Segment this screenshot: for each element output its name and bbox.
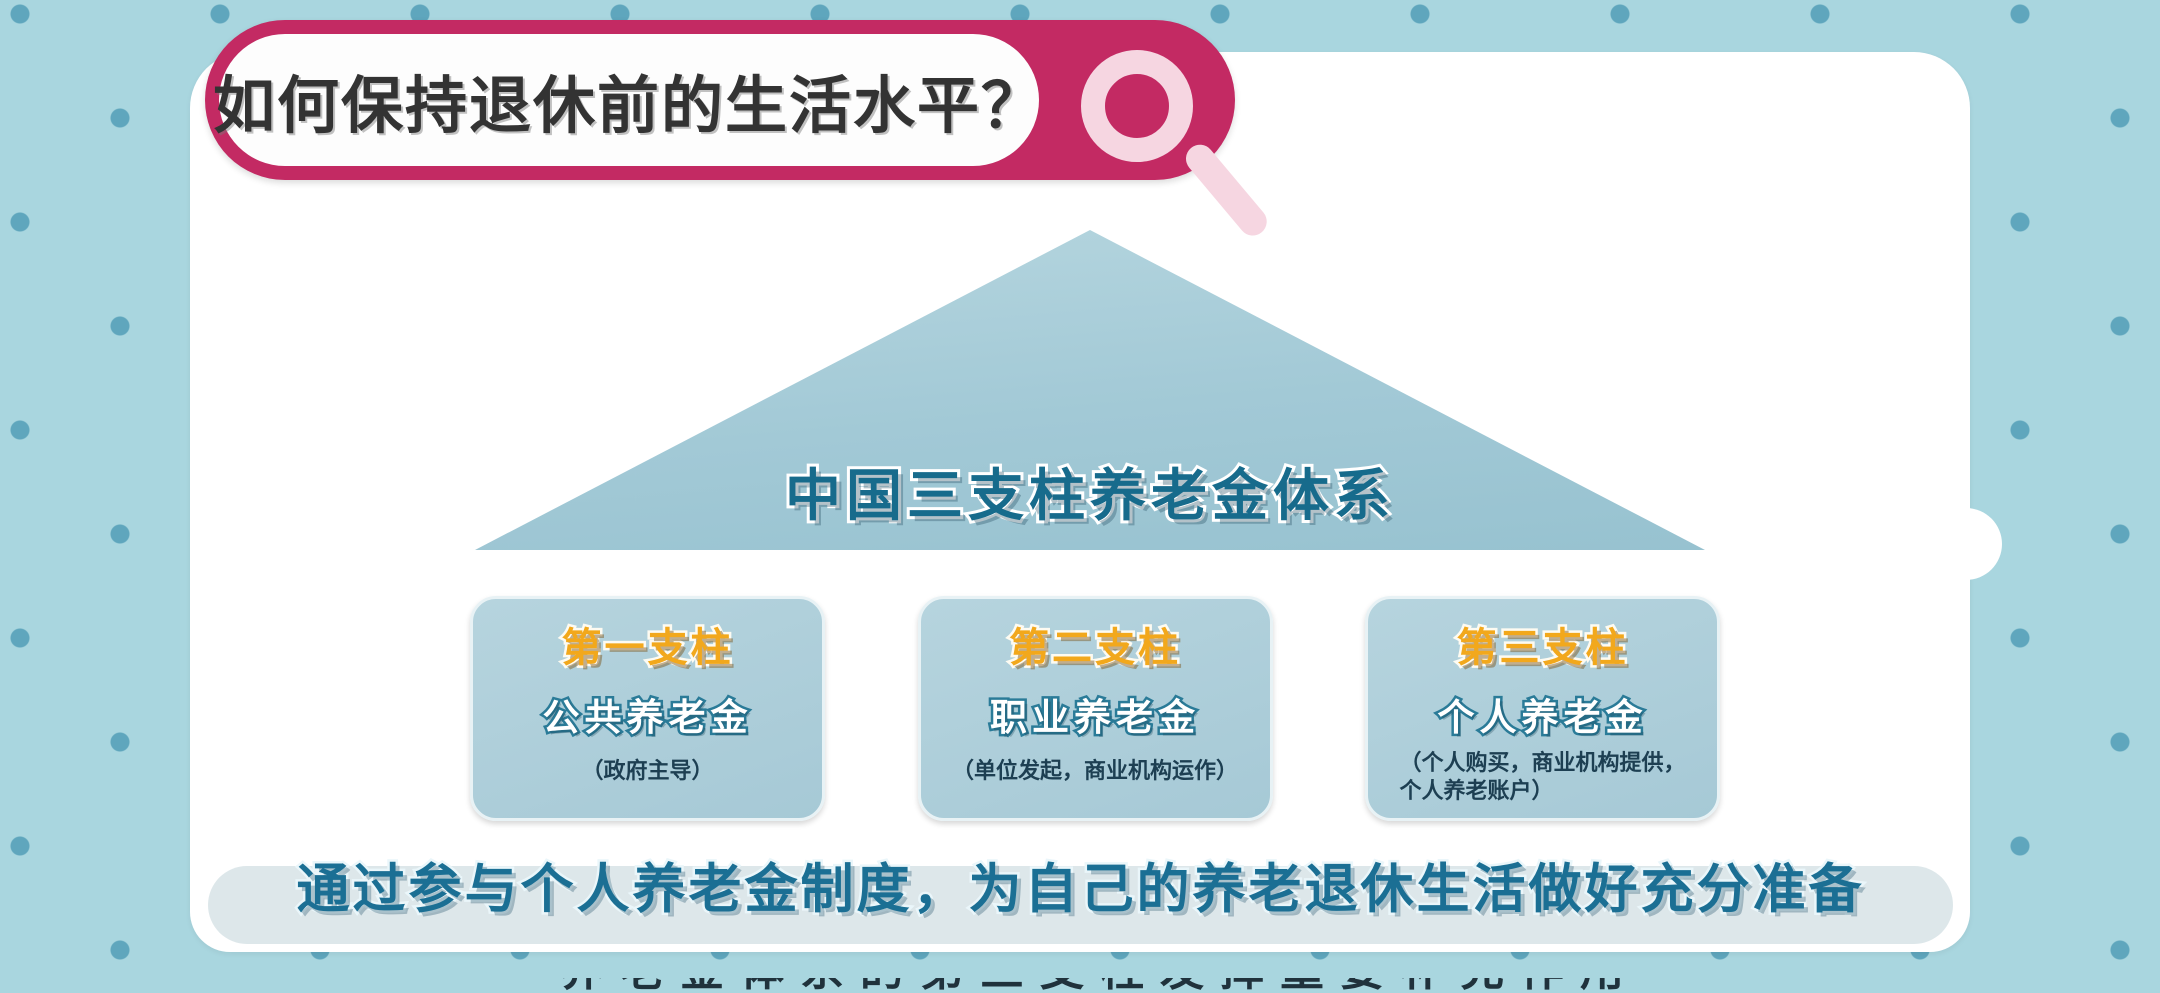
pillar-2-note: （单位发起，商业机构运作） (942, 757, 1248, 785)
title-pill-inner: 如何保持退休前的生活水平？ (219, 34, 1039, 166)
pillar-3-note-line-1: （个人购买，商业机构提供， (1399, 749, 1685, 777)
cutoff-text: 养老金体系的第三支柱发挥重要补充作用 (560, 978, 1640, 993)
pillar-2-heading: 第二支柱 (1009, 615, 1181, 673)
magnifier-handle (1180, 139, 1272, 241)
pillar-3-heading: 第三支柱 (1457, 615, 1629, 673)
pillar-card-list: 第一支柱 公共养老金 （政府主导） 第二支柱 职业养老金 （单位发起，商业机构运… (470, 596, 1720, 821)
pillar-card-1[interactable]: 第一支柱 公共养老金 （政府主导） (470, 596, 825, 821)
pillar-3-subtitle: 个人养老金 (1438, 687, 1648, 741)
pillar-1-heading: 第一支柱 (562, 615, 734, 673)
title-banner: 如何保持退休前的生活水平？ (205, 20, 1235, 180)
pyramid-title: 中国三支柱养老金体系 (475, 451, 1705, 532)
magnifier-icon (1065, 38, 1275, 228)
cutoff-text-row: 养老金体系的第三支柱发挥重要补充作用 (0, 978, 2160, 993)
pillar-card-2[interactable]: 第二支柱 职业养老金 （单位发起，商业机构运作） (918, 596, 1273, 821)
pillar-1-note: （政府主导） (571, 757, 723, 785)
pillar-1-subtitle: 公共养老金 (543, 687, 753, 741)
pyramid-diagram: 中国三支柱养老金体系 (475, 230, 1705, 550)
pillar-2-subtitle: 职业养老金 (990, 687, 1200, 741)
pillar-card-3[interactable]: 第三支柱 个人养老金 （个人购买，商业机构提供， 个人养老账户） (1365, 596, 1720, 821)
pillar-3-note: （个人购买，商业机构提供， 个人养老账户） (1389, 749, 1695, 804)
bottom-banner-text: 通过参与个人养老金制度，为自己的养老退休生活做好充分准备 (208, 846, 1953, 924)
pillar-3-note-line-2: 个人养老账户） (1399, 777, 1685, 805)
page-title: 如何保持退休前的生活水平？ (213, 55, 1045, 145)
magnifier-ring (1081, 50, 1193, 162)
